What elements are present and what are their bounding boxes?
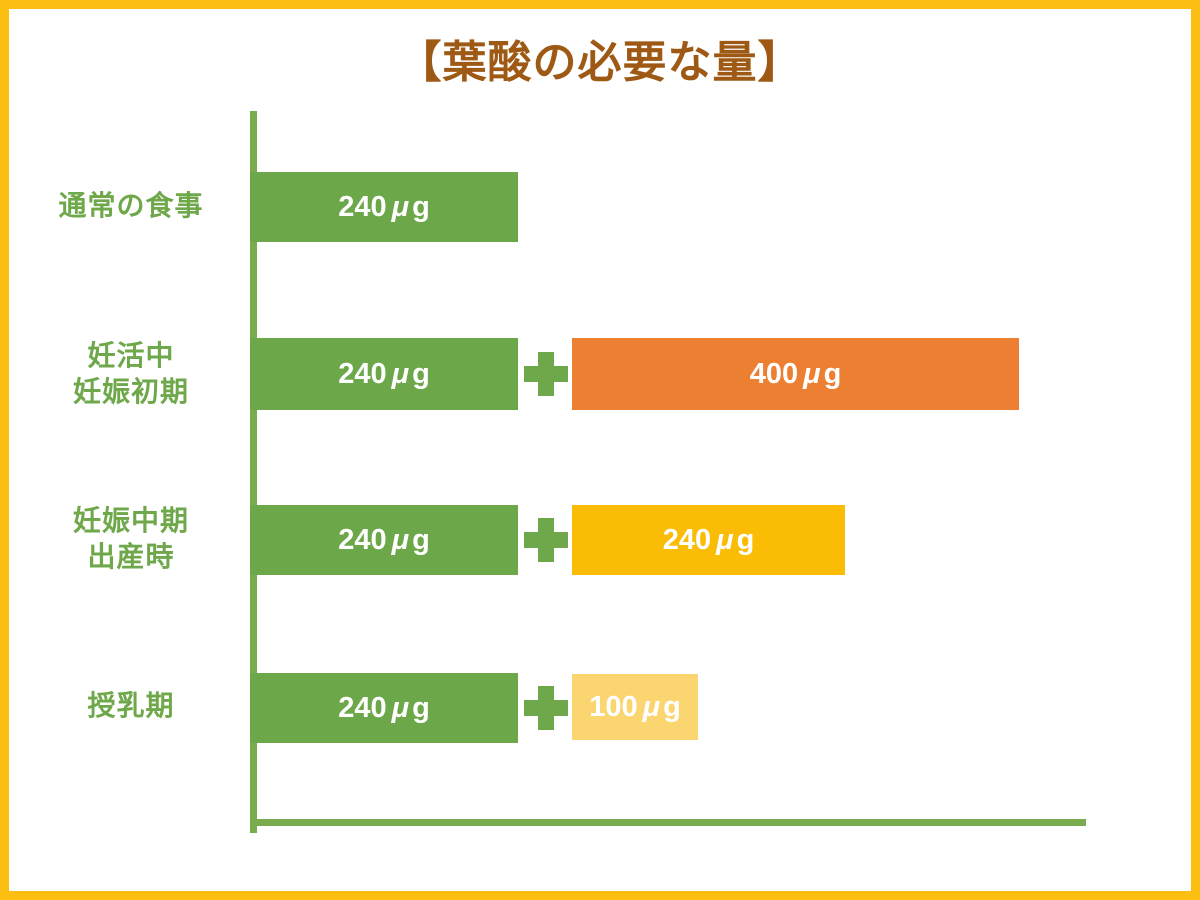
bar-row3-add-value: 240 xyxy=(663,524,711,557)
bar-row4-base-unit: g xyxy=(411,692,430,725)
bar-row2-add-value: 400 xyxy=(750,358,798,391)
frame-border-top xyxy=(0,0,1200,9)
axis-horizontal xyxy=(250,819,1086,826)
bar-row3-add-unit: g xyxy=(736,524,755,557)
chart-row-3: 妊娠中期 出産時 240 μ g 240 μ g xyxy=(0,505,1200,575)
plus-cross-icon xyxy=(524,686,568,730)
plus-cross-icon xyxy=(524,352,568,396)
row-label-1: 通常の食事 xyxy=(24,188,238,224)
bar-row1-base: 240 μ g xyxy=(250,172,518,242)
bar-row4-base-value: 240 xyxy=(338,692,386,725)
row-label-2-line-2: 妊娠初期 xyxy=(24,374,238,410)
row-label-2: 妊活中 妊娠初期 xyxy=(24,338,238,410)
chart-row-1: 通常の食事 240 μ g xyxy=(0,172,1200,242)
bar-row1-base-value: 240 xyxy=(338,191,386,224)
bar-row3-base: 240 μ g xyxy=(250,505,518,575)
bar-row2-base-value: 240 xyxy=(338,358,386,391)
chart-row-4: 授乳期 240 μ g 100 μ g xyxy=(0,673,1200,743)
frame-border-left xyxy=(0,0,9,900)
plus-cross-bar-vertical xyxy=(538,686,554,730)
row-label-4-line-1: 授乳期 xyxy=(24,688,238,724)
bar-row2-base-mu: μ xyxy=(387,358,412,391)
bar-row4-add-value: 100 xyxy=(589,691,637,724)
bar-row4-add: 100 μ g xyxy=(572,674,698,740)
row-label-2-line-1: 妊活中 xyxy=(24,338,238,374)
bar-row4-add-unit: g xyxy=(662,691,681,724)
bar-row3-base-unit: g xyxy=(411,524,430,557)
bar-row2-add-mu: μ xyxy=(798,358,823,391)
bar-row3-add-mu: μ xyxy=(711,524,736,557)
bar-row3-base-mu: μ xyxy=(387,524,412,557)
bar-row2-base: 240 μ g xyxy=(250,338,518,410)
plus-cross-bar-vertical xyxy=(538,518,554,562)
row-label-3-line-2: 出産時 xyxy=(24,539,238,575)
chart-row-2: 妊活中 妊娠初期 240 μ g 400 μ g xyxy=(0,338,1200,410)
plus-cross-bar-vertical xyxy=(538,352,554,396)
plus-cross-icon xyxy=(524,518,568,562)
bar-row3-add: 240 μ g xyxy=(572,505,845,575)
row-label-1-line-1: 通常の食事 xyxy=(24,188,238,224)
bar-row4-add-mu: μ xyxy=(638,691,663,724)
bar-row3-base-value: 240 xyxy=(338,524,386,557)
bar-row1-base-unit: g xyxy=(411,191,430,224)
row-label-4: 授乳期 xyxy=(24,688,238,724)
row-label-3: 妊娠中期 出産時 xyxy=(24,503,238,575)
frame-border-right xyxy=(1191,0,1200,900)
infographic-canvas: 【葉酸の必要な量】 通常の食事 240 μ g 妊活中 妊娠初期 240 μ g… xyxy=(0,0,1200,900)
chart-title: 【葉酸の必要な量】 xyxy=(0,26,1200,90)
row-label-3-line-1: 妊娠中期 xyxy=(24,503,238,539)
frame-border-bottom xyxy=(0,891,1200,900)
bar-row2-add: 400 μ g xyxy=(572,338,1019,410)
bar-row2-add-unit: g xyxy=(823,358,842,391)
bar-row1-base-mu: μ xyxy=(387,191,412,224)
bar-row2-base-unit: g xyxy=(411,358,430,391)
bar-row4-base: 240 μ g xyxy=(250,673,518,743)
bar-row4-base-mu: μ xyxy=(387,692,412,725)
